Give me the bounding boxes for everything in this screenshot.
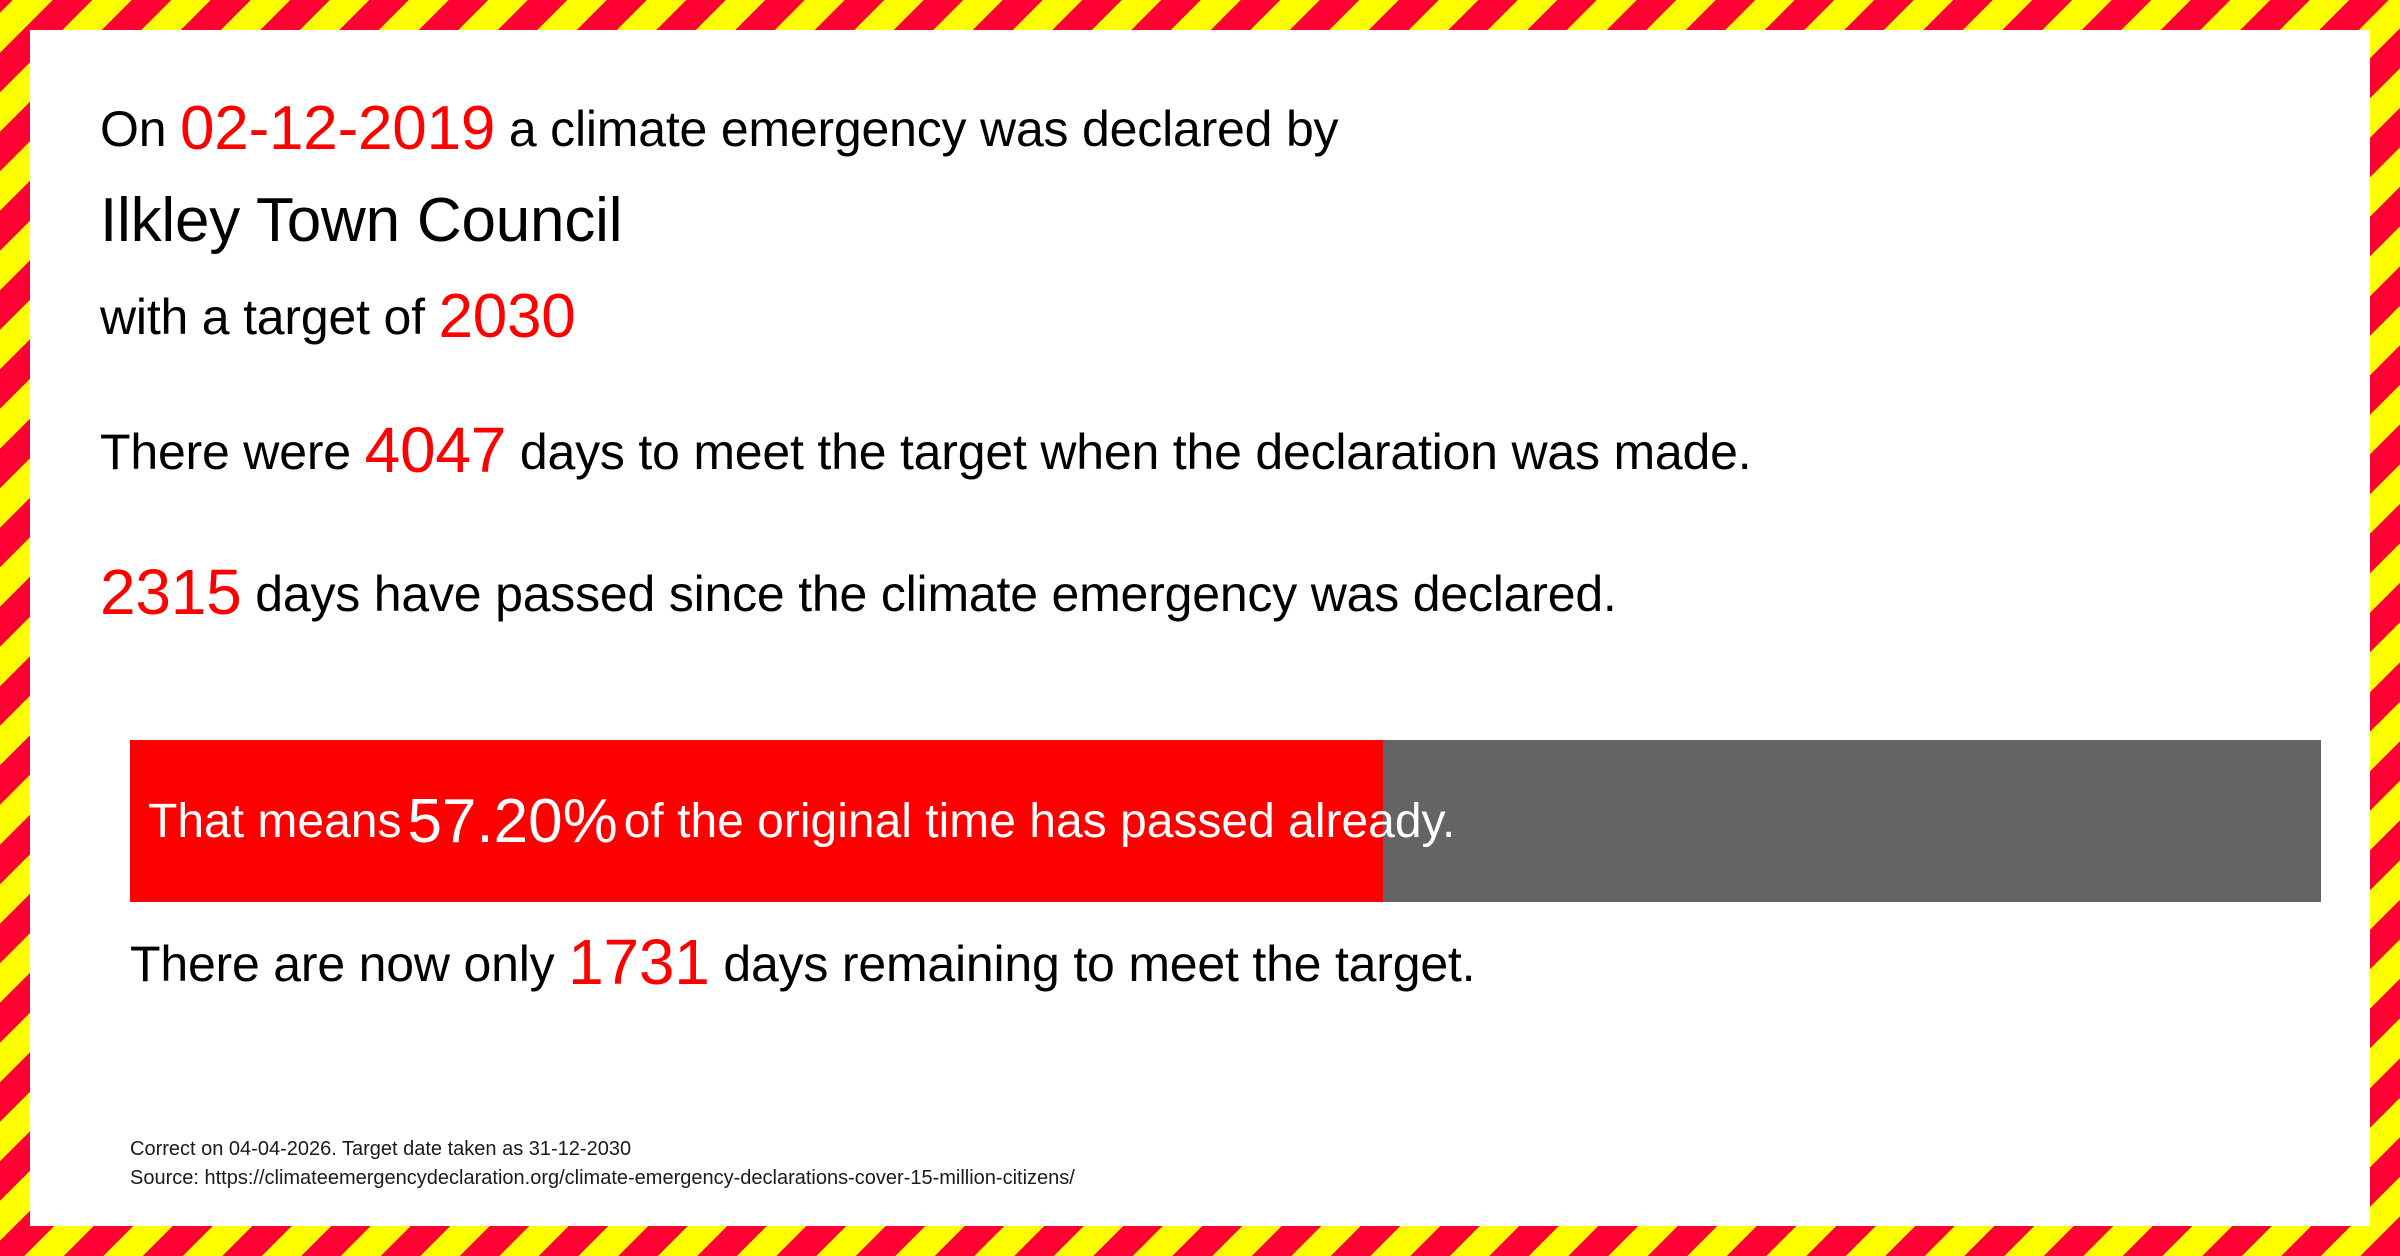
- progress-bar-track: That means 57.20% of the original time h…: [130, 740, 2321, 902]
- remaining-days-value: 1731: [568, 926, 710, 998]
- original-days-line: There were 4047 days to meet the target …: [100, 418, 2300, 482]
- poster-content: On 02-12-2019 a climate emergency was de…: [100, 70, 2300, 624]
- progress-label-prefix: That means: [148, 794, 401, 849]
- original-days-value: 4047: [365, 414, 507, 486]
- hazard-border-frame: On 02-12-2019 a climate emergency was de…: [0, 0, 2400, 1256]
- target-year: 2030: [438, 282, 575, 351]
- declaration-date: 02-12-2019: [180, 94, 495, 163]
- council-name: Ilkley Town Council: [100, 190, 2300, 252]
- remaining-prefix: There are now only: [130, 936, 568, 992]
- progress-percent-value: 57.20%: [401, 786, 623, 857]
- elapsed-days-value: 2315: [100, 556, 242, 628]
- footnote-source: Source: https://climateemergencydeclarat…: [130, 1164, 1075, 1193]
- declaration-prefix: On: [100, 101, 180, 157]
- footnotes: Correct on 04-04-2026. Target date taken…: [130, 1135, 1075, 1193]
- declaration-suffix: a climate emergency was declared by: [495, 101, 1338, 157]
- footnote-correct-on: Correct on 04-04-2026. Target date taken…: [130, 1135, 1075, 1164]
- original-suffix: days to meet the target when the declara…: [506, 424, 1751, 480]
- elapsed-suffix: days have passed since the climate emerg…: [242, 566, 1617, 622]
- target-line: with a target of 2030: [100, 286, 2300, 348]
- remaining-suffix: days remaining to meet the target.: [710, 936, 1476, 992]
- remaining-days-line: There are now only 1731 days remaining t…: [130, 930, 1475, 994]
- progress-label-suffix: of the original time has passed already.: [624, 794, 1456, 849]
- target-prefix: with a target of: [100, 289, 438, 345]
- original-prefix: There were: [100, 424, 365, 480]
- elapsed-days-line: 2315 days have passed since the climate …: [100, 560, 2300, 624]
- poster-card: On 02-12-2019 a climate emergency was de…: [30, 30, 2370, 1226]
- progress-bar-label: That means 57.20% of the original time h…: [148, 740, 1455, 902]
- declaration-line: On 02-12-2019 a climate emergency was de…: [100, 98, 2300, 160]
